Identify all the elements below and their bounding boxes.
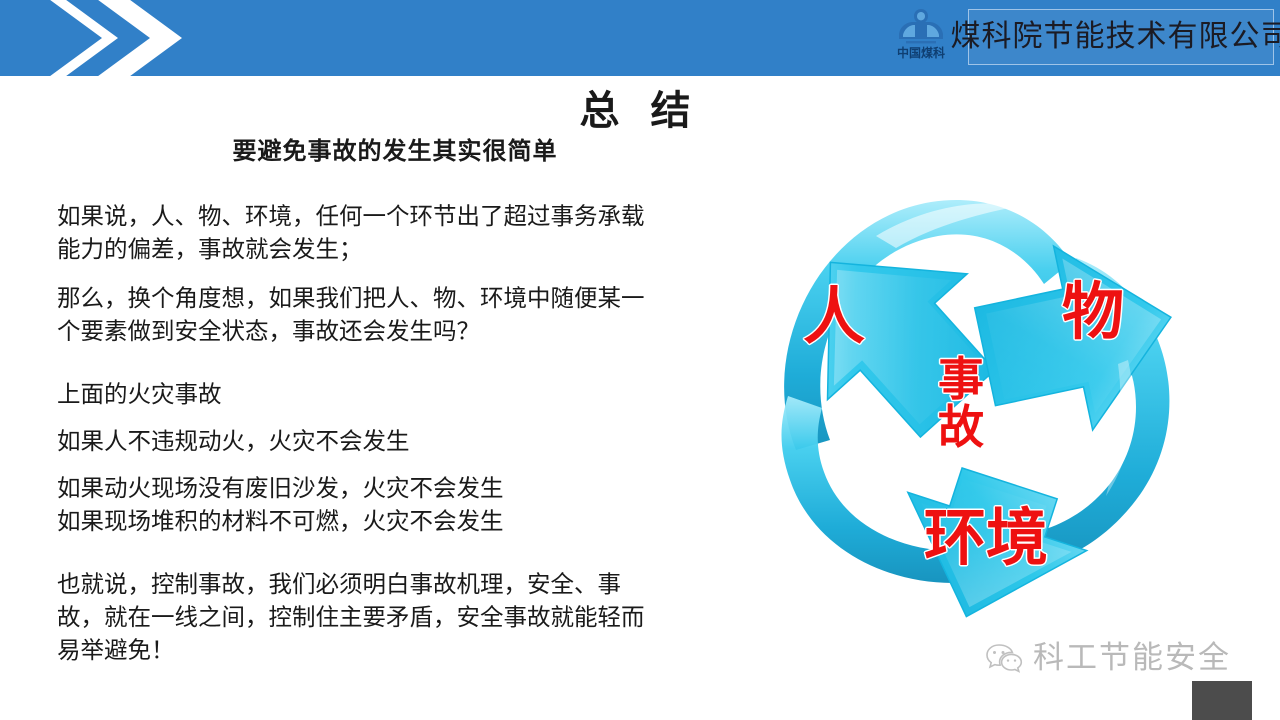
paragraph-5: 如果动火现场没有废旧沙发，火灾不会发生 如果现场堆积的材料不可燃，火灾不会发生 — [57, 472, 747, 538]
bottom-right-block — [1192, 681, 1252, 720]
page-subtitle: 要避免事故的发生其实很简单 — [0, 137, 790, 167]
wechat-watermark: 科工节能安全 — [985, 641, 1231, 675]
paragraph-line: 那么，换个角度想，如果我们把人、物、环境中随便某一 — [57, 282, 747, 315]
paragraph-line: 故，就在一线之间，控制住主要矛盾，安全事故就能轻而 — [57, 601, 747, 634]
company-logo: 中国煤科 — [884, 6, 958, 70]
page-title: 总 结 — [0, 88, 1280, 134]
watermark-text: 科工节能安全 — [1033, 641, 1231, 675]
paragraph-line: 易举避免！ — [57, 634, 747, 667]
arrow-label-object: 物 — [1062, 282, 1124, 344]
company-name: 煤科院节能技术有限公司 — [951, 20, 1280, 54]
paragraph-line: 如果现场堆积的材料不可燃，火灾不会发生 — [57, 505, 747, 538]
paragraph-line: 如果人不违规动火，火灾不会发生 — [57, 425, 747, 458]
center-label-char-1: 事 — [936, 355, 986, 403]
wechat-icon — [985, 642, 1023, 674]
company-name-box: 煤科院节能技术有限公司 — [968, 9, 1274, 65]
center-label-accident: 事 故 — [936, 355, 986, 451]
body-text-column: 如果说，人、物、环境，任何一个环节出了超过事务承载 能力的偏差，事故就会发生； … — [57, 200, 747, 667]
logo-label: 中国煤科 — [897, 47, 945, 60]
paragraph-3: 上面的火灾事故 — [57, 378, 747, 411]
paragraph-line: 也就说，控制事故，我们必须明白事故机理，安全、事 — [57, 568, 747, 601]
paragraph-2: 那么，换个角度想，如果我们把人、物、环境中随便某一 个要素做到安全状态，事故还会… — [57, 282, 747, 348]
paragraph-line: 能力的偏差，事故就会发生； — [57, 233, 747, 266]
top-banner: 中国煤科 煤科院节能技术有限公司 — [0, 0, 1280, 76]
paragraph-1: 如果说，人、物、环境，任何一个环节出了超过事务承载 能力的偏差，事故就会发生； — [57, 200, 747, 266]
paragraph-6: 也就说，控制事故，我们必须明白事故机理，安全、事 故，就在一线之间，控制住主要矛… — [57, 568, 747, 667]
paragraph-line: 上面的火灾事故 — [57, 378, 747, 411]
china-coal-emblem-icon — [893, 6, 949, 46]
paragraph-line: 如果说，人、物、环境，任何一个环节出了超过事务承载 — [57, 200, 747, 233]
paragraph-4: 如果人不违规动火，火灾不会发生 — [57, 425, 747, 458]
arrow-label-environment: 环境 — [924, 508, 1048, 570]
center-label-char-2: 故 — [936, 403, 986, 451]
paragraph-line: 个要素做到安全状态，事故还会发生吗？ — [57, 315, 747, 348]
double-chevron-right-icon — [40, 0, 240, 76]
paragraph-line: 如果动火现场没有废旧沙发，火灾不会发生 — [57, 472, 747, 505]
arrow-label-people: 人 — [803, 287, 865, 349]
